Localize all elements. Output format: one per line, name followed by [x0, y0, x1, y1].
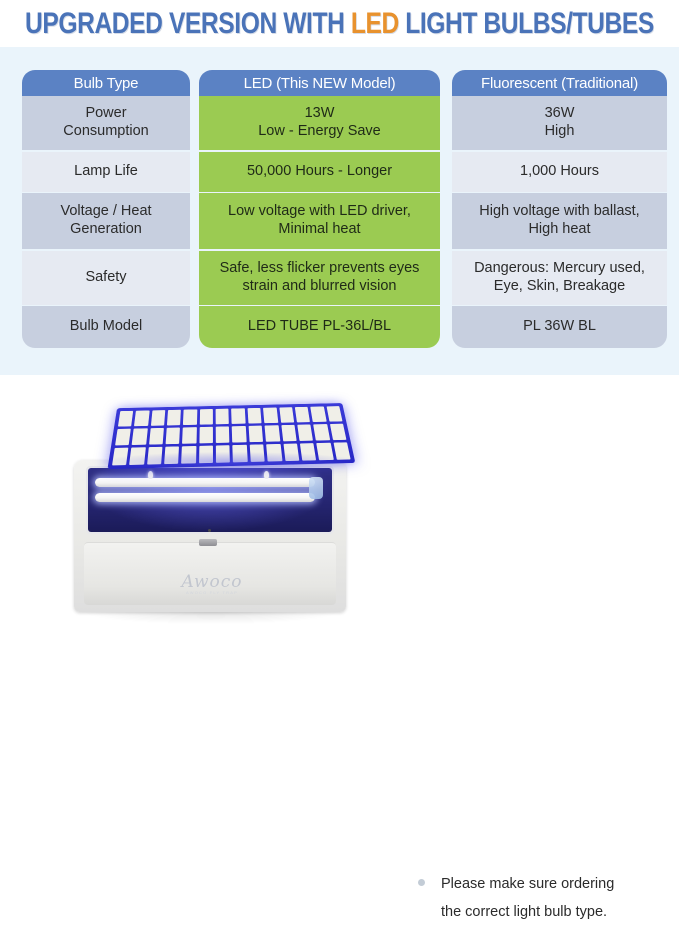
table-cell-attribute-power: Power Consumption: [22, 96, 190, 150]
lid-pane: [216, 409, 230, 425]
lid-pane: [326, 406, 342, 422]
page-title: UPGRADED VERSION WITH LED LIGHT BULBS/TU…: [25, 7, 654, 41]
lid-pane: [300, 443, 317, 461]
lid-pane: [297, 424, 313, 441]
lid-pane: [250, 444, 265, 462]
lid-pane: [147, 447, 163, 465]
lid-pane: [266, 444, 282, 462]
column-header-bulb-type: Bulb Type: [22, 70, 190, 96]
lid-pane: [149, 428, 164, 445]
table-cell-attribute-lamp-life: Lamp Life: [22, 152, 190, 192]
lid-pane: [199, 427, 213, 444]
lid-pane: [265, 425, 280, 442]
lid-pane: [182, 446, 197, 464]
lid-pane: [216, 445, 230, 463]
lid-pane: [295, 407, 310, 423]
lid-pane: [182, 427, 196, 444]
lid-pane: [118, 411, 134, 427]
lid-pane: [134, 410, 149, 426]
table-column-led: LED (This NEW Model) 13W Low - Energy Sa…: [199, 70, 440, 350]
lid-pane: [183, 409, 197, 425]
lid-pane: [313, 424, 329, 440]
table-column-attribute: Bulb Type Power Consumption Lamp Life Vo…: [22, 70, 190, 350]
page-title-bar: UPGRADED VERSION WITH LED LIGHT BULBS/TU…: [0, 0, 679, 47]
ordering-note-line-1: Please make sure ordering: [441, 870, 658, 898]
bullet-icon: [418, 879, 425, 886]
lid-pane: [311, 406, 327, 422]
table-column-fluorescent: Fluorescent (Traditional) 36W High 1,000…: [452, 70, 667, 350]
status-led-icon: [208, 529, 211, 532]
table-cell-fluorescent-safety: Dangerous: Mercury used, Eye, Skin, Brea…: [452, 251, 667, 305]
lid-pane: [115, 429, 131, 446]
ordering-note-line-2: the correct light bulb type.: [441, 898, 658, 926]
lid-pane: [233, 445, 248, 463]
table-cell-fluorescent-power: 36W High: [452, 96, 667, 150]
lid-pane: [232, 408, 246, 424]
lid-pane: [167, 410, 181, 426]
uv-tube-socket: [309, 477, 323, 499]
table-cell-led-power: 13W Low - Energy Save: [199, 96, 440, 150]
device-latch: [199, 539, 217, 546]
lid-pane: [129, 447, 145, 465]
lid-pane: [317, 443, 334, 461]
lid-pane: [132, 428, 148, 445]
product-image-fly-trap: Awoco AWOCO FLY TRAP: [62, 390, 362, 625]
device-shadow: [86, 612, 336, 624]
table-cell-fluorescent-lamp-life: 1,000 Hours: [452, 152, 667, 192]
lid-pane: [330, 424, 347, 440]
product-photo-area: Awoco AWOCO FLY TRAP Please make sure or…: [0, 375, 679, 662]
table-cell-attribute-voltage-heat: Voltage / Heat Generation: [22, 193, 190, 249]
table-cell-fluorescent-bulb-model: PL 36W BL: [452, 306, 667, 348]
device-grid-lid: [107, 403, 355, 469]
title-text-before: UPGRADED VERSION WITH: [25, 7, 351, 40]
table-cell-led-bulb-model: LED TUBE PL-36L/BL: [199, 306, 440, 348]
table-cell-attribute-safety: Safety: [22, 251, 190, 305]
table-cell-led-lamp-life: 50,000 Hours - Longer: [199, 152, 440, 192]
uv-tube-lower: [95, 493, 315, 502]
title-text-highlight: LED: [351, 7, 399, 40]
tube-clip-right: [264, 471, 269, 479]
lid-pane: [112, 448, 129, 466]
table-cell-led-voltage-heat: Low voltage with LED driver, Minimal hea…: [199, 193, 440, 249]
column-header-led: LED (This NEW Model): [199, 70, 440, 96]
table-cell-fluorescent-voltage-heat: High voltage with ballast, High heat: [452, 193, 667, 249]
lid-pane: [247, 408, 261, 424]
tube-clip-left: [148, 471, 153, 479]
uv-tube-upper: [95, 478, 315, 487]
lid-pane: [263, 408, 278, 424]
ordering-note: Please make sure ordering the correct li…: [418, 870, 658, 927]
product-brand-logo: Awoco: [62, 572, 362, 592]
comparison-panel: Bulb Type Power Consumption Lamp Life Vo…: [0, 47, 679, 375]
lid-pane: [216, 426, 230, 443]
column-header-fluorescent: Fluorescent (Traditional): [452, 70, 667, 96]
table-cell-led-safety: Safe, less flicker prevents eyes strain …: [199, 251, 440, 305]
ordering-note-text: Please make sure ordering the correct li…: [441, 870, 658, 927]
lid-pane: [281, 425, 297, 442]
lid-pane: [232, 426, 246, 443]
lid-pane: [279, 407, 294, 423]
lid-pane: [166, 428, 181, 445]
table-cell-attribute-bulb-model: Bulb Model: [22, 306, 190, 348]
lid-pane: [333, 442, 350, 460]
lid-pane: [283, 444, 299, 462]
lid-pane: [248, 426, 263, 443]
comparison-table: Bulb Type Power Consumption Lamp Life Vo…: [22, 70, 667, 350]
product-brand-subtitle: AWOCO FLY TRAP: [62, 590, 362, 595]
lid-pane: [200, 409, 213, 425]
lid-pane: [151, 410, 166, 426]
lid-pane: [164, 446, 179, 464]
title-text-after: LIGHT BULBS/TUBES: [399, 7, 654, 40]
lid-pane: [199, 446, 213, 464]
